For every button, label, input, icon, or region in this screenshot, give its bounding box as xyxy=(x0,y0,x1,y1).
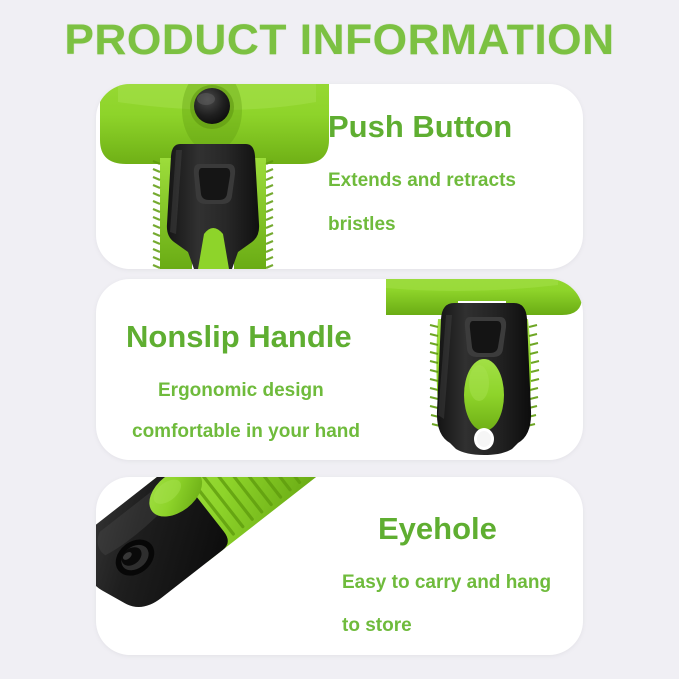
feature-line-nonslip-handle-1: Ergonomic design xyxy=(158,381,324,400)
feature-card-eyehole: Eyehole Easy to carry and hang to store xyxy=(96,477,583,655)
feature-heading-eyehole: Eyehole xyxy=(378,513,497,544)
product-image-nonslip-handle xyxy=(386,279,583,460)
feature-card-nonslip-handle: Nonslip Handle Ergonomic design comforta… xyxy=(96,279,583,460)
feature-line-nonslip-handle-2: comfortable in your hand xyxy=(132,422,360,441)
page-title: PRODUCT INFORMATION xyxy=(0,18,679,63)
feature-line-eyehole-1: Easy to carry and hang xyxy=(342,573,551,592)
feature-line-push-button-1: Extends and retracts xyxy=(328,171,516,190)
feature-line-eyehole-2: to store xyxy=(342,616,412,635)
product-image-eyehole xyxy=(96,477,366,655)
feature-heading-push-button: Push Button xyxy=(328,111,512,142)
product-image-push-button xyxy=(96,84,356,269)
feature-line-push-button-2: bristles xyxy=(328,215,396,234)
feature-heading-nonslip-handle: Nonslip Handle xyxy=(126,321,352,352)
feature-card-push-button: Push Button Extends and retracts bristle… xyxy=(96,84,583,269)
